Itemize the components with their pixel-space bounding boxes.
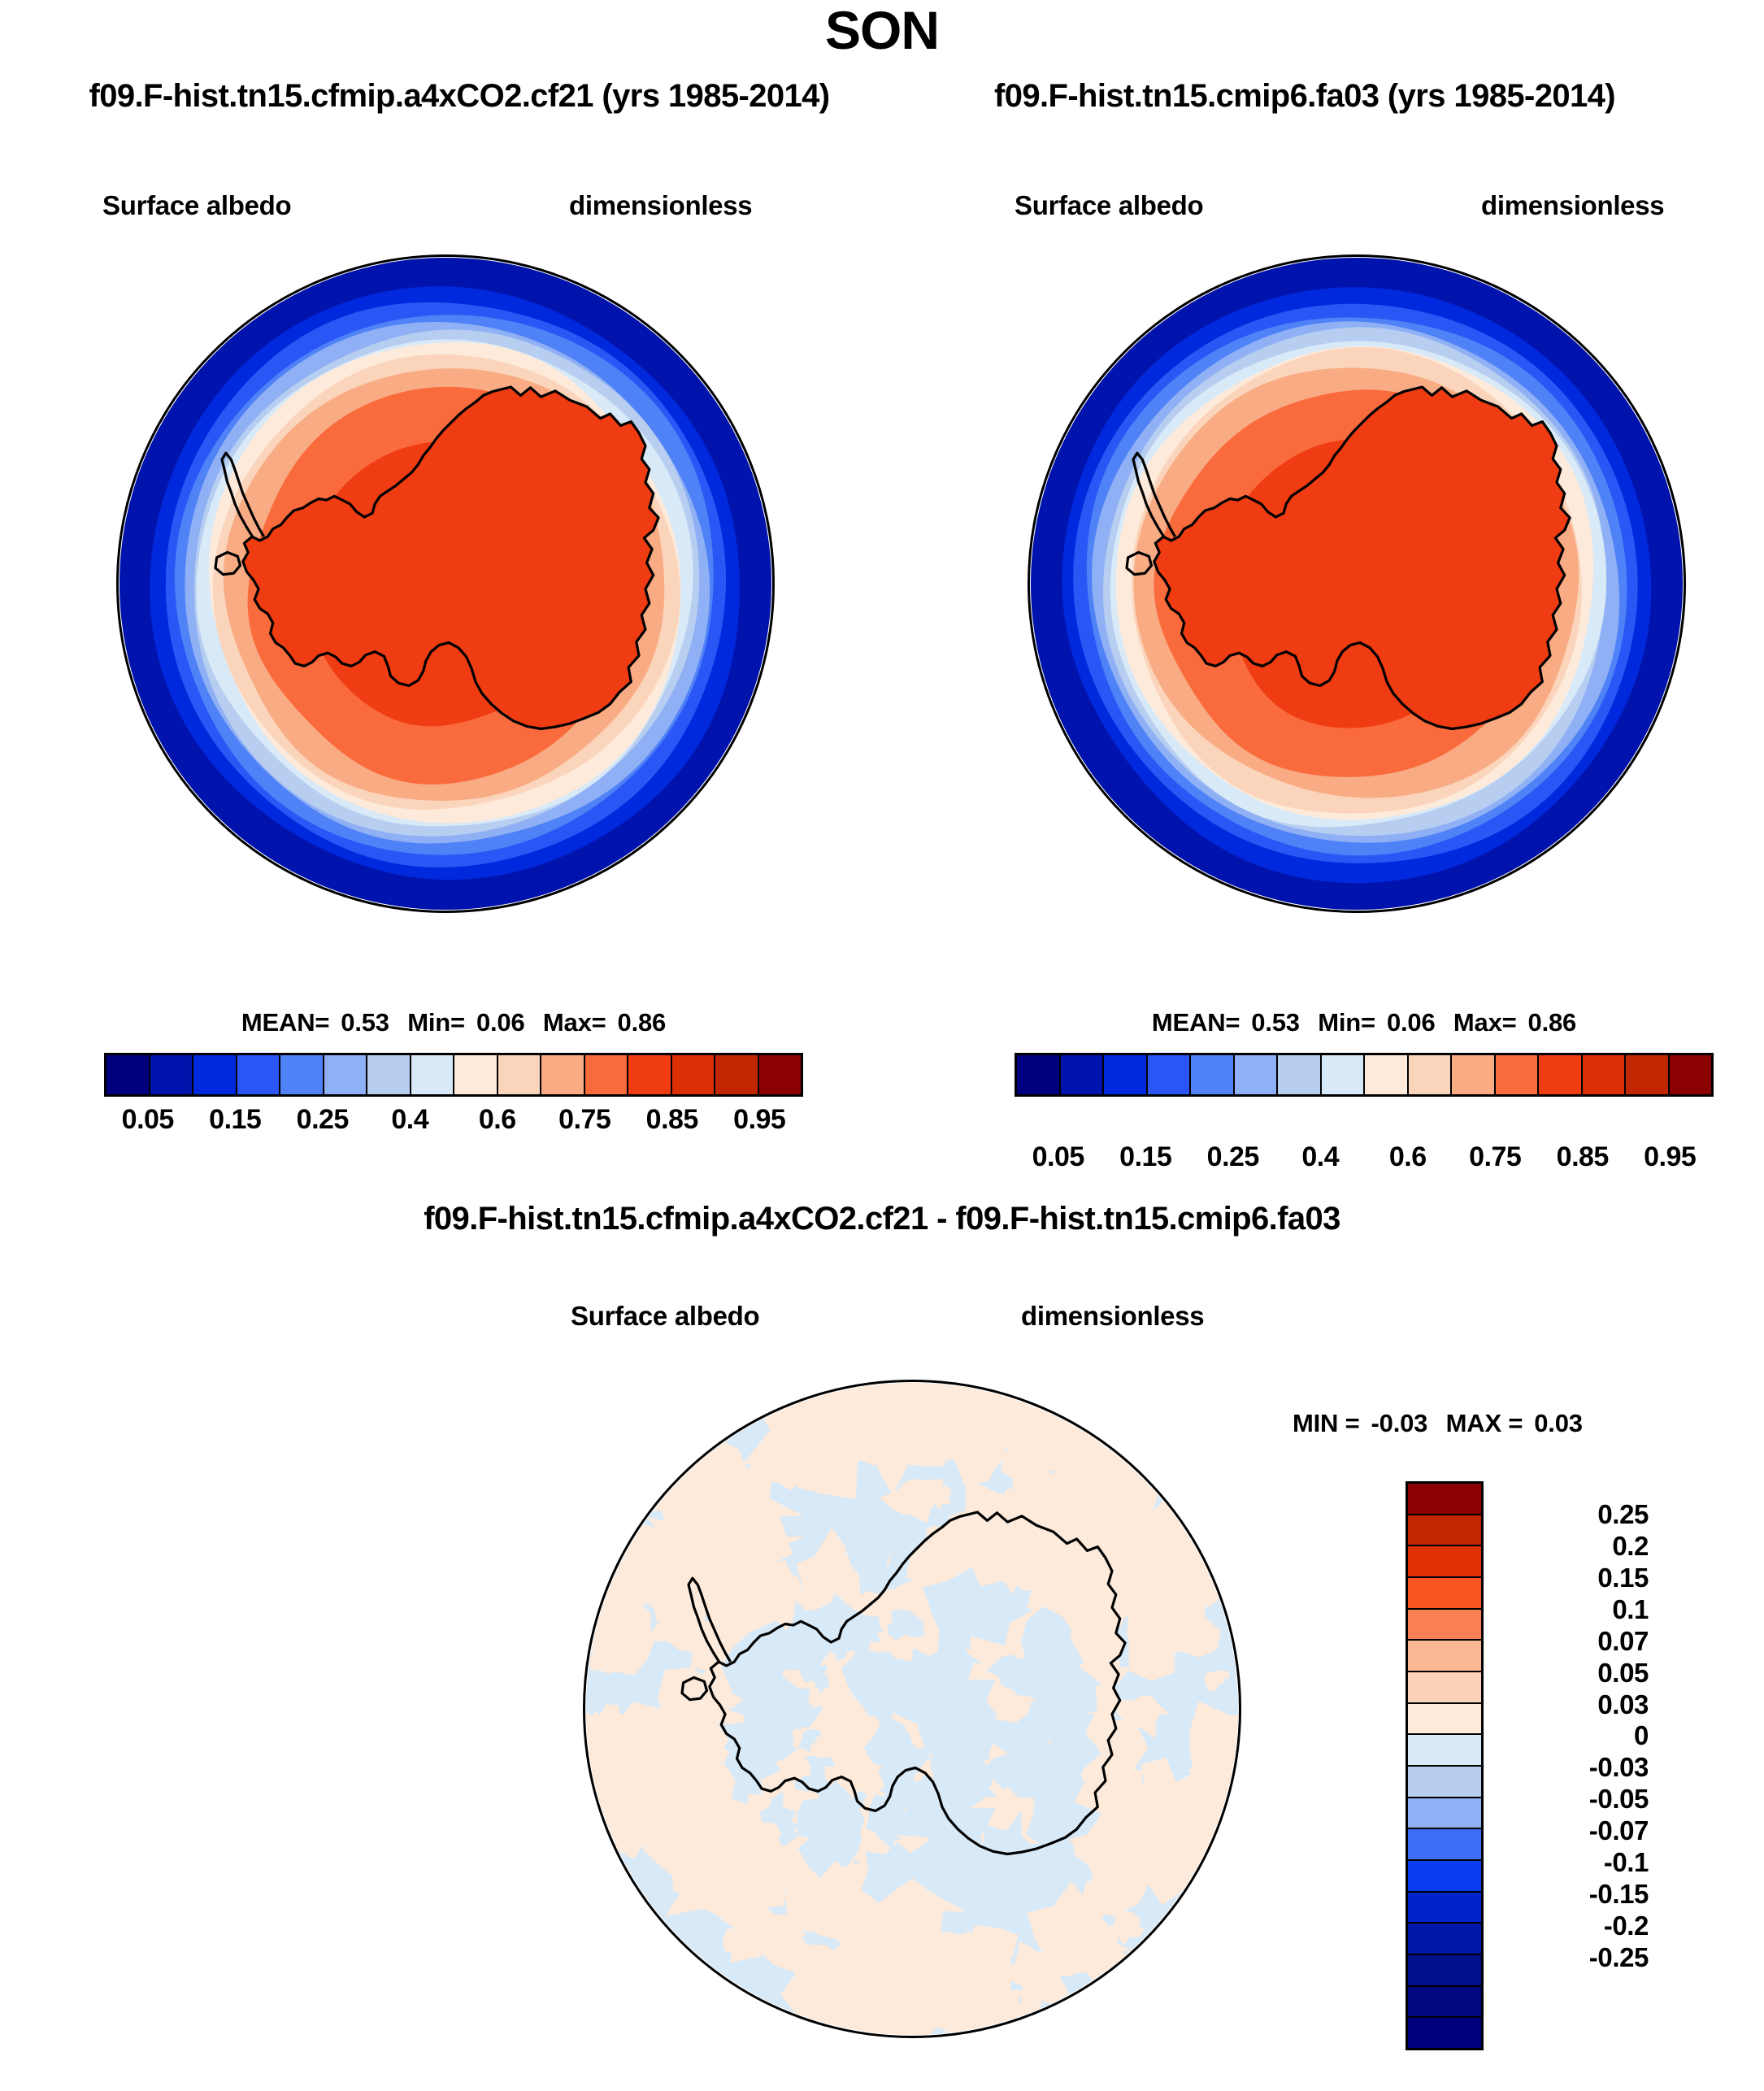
colorbar-cell: [759, 1055, 802, 1094]
colorbar-right-labels: 0.050.150.250.40.60.750.850.95: [1015, 1141, 1714, 1179]
polar-map-right: [1028, 254, 1686, 913]
left-mean-label: MEAN=: [241, 1008, 329, 1037]
colorbar-cell: [1408, 1546, 1481, 1578]
colorbar-cell: [1148, 1055, 1192, 1094]
colorbar-tick-label: 0.85: [1557, 1141, 1609, 1173]
right-panel-stats: MEAN=0.53 Min=0.06 Max=0.86: [1015, 1008, 1714, 1037]
diff-panel-variable-label: Surface albedo: [571, 1301, 759, 1332]
colorbar-tick-label: -0.25: [1494, 1942, 1649, 1973]
colorbar-tick-label: -0.07: [1494, 1815, 1649, 1846]
colorbar-tick-label: 0.6: [1389, 1141, 1427, 1173]
colorbar-cell: [1191, 1055, 1235, 1094]
difference-title: f09.F-hist.tn15.cfmip.a4xCO2.cf21 - f09.…: [0, 1201, 1764, 1237]
colorbar-cell: [1322, 1055, 1366, 1094]
difference-patch: [1010, 2000, 1042, 2032]
colorbar-cell: [237, 1055, 281, 1094]
right-max-label: Max=: [1453, 1008, 1517, 1037]
left-min-value: 0.06: [476, 1008, 525, 1037]
right-panel-variable-label: Surface albedo: [1015, 190, 1203, 221]
colorbar-tick-label: -0.15: [1494, 1879, 1649, 1910]
diff-min-value: -0.03: [1371, 1409, 1428, 1437]
colorbar-cell: [585, 1055, 629, 1094]
left-mean-value: 0.53: [341, 1008, 389, 1037]
diff-max-value: 0.03: [1534, 1409, 1583, 1437]
colorbar-cell: [628, 1055, 672, 1094]
colorbar-left: [104, 1053, 803, 1097]
colorbar-cell: [324, 1055, 368, 1094]
colorbar-difference-labels: 0.250.20.150.10.070.050.030-0.03-0.05-0.…: [1494, 1481, 1681, 2050]
colorbar-cell: [1496, 1055, 1540, 1094]
colorbar-cell: [1061, 1055, 1105, 1094]
colorbar-cell: [715, 1055, 759, 1094]
colorbar-tick-label: -0.1: [1494, 1847, 1649, 1878]
season-title: SON: [0, 3, 1764, 57]
colorbar-cell: [1408, 1735, 1481, 1767]
diff-panel-stats: MIN =-0.03 MAX =0.03: [1293, 1409, 1699, 1438]
colorbar-tick-label: 0.05: [1494, 1658, 1649, 1689]
left-max-label: Max=: [543, 1008, 606, 1037]
colorbar-tick-label: -0.2: [1494, 1911, 1649, 1941]
colorbar-tick-label: 0.95: [733, 1104, 785, 1136]
colorbar-cell: [1408, 1610, 1481, 1641]
colorbar-cell: [1408, 1893, 1481, 1924]
colorbar-tick-label: 0.85: [646, 1104, 698, 1136]
colorbar-tick-label: 0.4: [391, 1104, 428, 1136]
colorbar-tick-label: 0.1: [1494, 1594, 1649, 1625]
left-min-label: Min=: [407, 1008, 465, 1037]
colorbar-cell: [193, 1055, 237, 1094]
right-mean-value: 0.53: [1251, 1008, 1300, 1037]
colorbar-tick-label: 0.25: [1207, 1141, 1259, 1173]
colorbar-cell: [1408, 1672, 1481, 1704]
colorbar-tick-label: 0.6: [479, 1104, 516, 1136]
colorbar-cell: [1408, 1798, 1481, 1830]
colorbar-cell: [411, 1055, 455, 1094]
colorbar-cell: [1408, 1924, 1481, 1955]
colorbar-cell: [1452, 1055, 1496, 1094]
colorbar-tick-label: 0.05: [1032, 1141, 1084, 1173]
colorbar-cell: [1408, 1484, 1481, 1515]
colorbar-tick-label: 0.75: [558, 1104, 610, 1136]
colorbar-cell: [1539, 1055, 1583, 1094]
map-canvas: [585, 1382, 1239, 2036]
colorbar-cell: [1408, 1861, 1481, 1893]
colorbar-cell: [1409, 1055, 1453, 1094]
colorbar-cell: [1408, 1704, 1481, 1736]
colorbar-cell: [1365, 1055, 1409, 1094]
colorbar-cell: [1408, 2018, 1481, 2048]
left-panel-variable-label: Surface albedo: [102, 190, 291, 221]
colorbar-tick-label: 0.25: [1494, 1499, 1649, 1530]
colorbar-cell: [280, 1055, 324, 1094]
colorbar-tick-label: 0.07: [1494, 1626, 1649, 1657]
colorbar-tick-label: 0.2: [1494, 1531, 1649, 1562]
colorbar-cell: [1408, 1829, 1481, 1861]
colorbar-tick-label: 0.03: [1494, 1689, 1649, 1720]
map-canvas: [1030, 257, 1684, 911]
colorbar-tick-label: -0.03: [1494, 1752, 1649, 1783]
colorbar-cell: [1408, 1955, 1481, 1987]
colorbar-tick-label: 0.15: [1119, 1141, 1171, 1173]
run-title-right: f09.F-hist.tn15.cmip6.fa03 (yrs 1985-201…: [845, 78, 1764, 115]
colorbar-cell: [1670, 1055, 1712, 1094]
colorbar-cell: [1408, 1515, 1481, 1547]
colorbar-cell: [1408, 1578, 1481, 1610]
right-panel-units-label: dimensionless: [1481, 190, 1664, 221]
colorbar-cell: [150, 1055, 194, 1094]
colorbar-cell: [541, 1055, 585, 1094]
run-title-left: f09.F-hist.tn15.cfmip.a4xCO2.cf21 (yrs 1…: [0, 78, 919, 115]
colorbar-tick-label: -0.05: [1494, 1784, 1649, 1815]
right-min-value: 0.06: [1387, 1008, 1436, 1037]
colorbar-right: [1015, 1053, 1714, 1097]
diff-max-label: MAX =: [1446, 1409, 1523, 1437]
colorbar-cell: [1408, 1641, 1481, 1672]
colorbar-tick-label: 0.15: [209, 1104, 261, 1136]
colorbar-tick-label: 0.15: [1494, 1563, 1649, 1593]
colorbar-cell: [1408, 1767, 1481, 1798]
polar-map-difference: [583, 1380, 1241, 2038]
colorbar-tick-label: 0.95: [1644, 1141, 1696, 1173]
colorbar-cell: [1017, 1055, 1061, 1094]
colorbar-cell: [1408, 1987, 1481, 2019]
colorbar-tick-label: 0.75: [1469, 1141, 1521, 1173]
colorbar-cell: [454, 1055, 498, 1094]
colorbar-cell: [1235, 1055, 1279, 1094]
colorbar-tick-label: 0.05: [122, 1104, 174, 1136]
colorbar-tick-label: 0: [1494, 1720, 1649, 1751]
colorbar-difference: [1406, 1481, 1484, 2050]
colorbar-cell: [367, 1055, 411, 1094]
colorbar-cell: [1626, 1055, 1670, 1094]
left-panel-stats: MEAN=0.53 Min=0.06 Max=0.86: [104, 1008, 803, 1037]
right-mean-label: MEAN=: [1152, 1008, 1240, 1037]
polar-map-left: [116, 254, 775, 913]
diff-min-label: MIN =: [1293, 1409, 1360, 1437]
colorbar-tick-label: 0.25: [297, 1104, 349, 1136]
left-max-value: 0.86: [618, 1008, 667, 1037]
map-canvas: [119, 257, 772, 911]
left-panel-units-label: dimensionless: [569, 190, 752, 221]
colorbar-cell: [672, 1055, 716, 1094]
colorbar-cell: [1104, 1055, 1148, 1094]
right-min-label: Min=: [1318, 1008, 1375, 1037]
colorbar-cell: [1583, 1055, 1627, 1094]
colorbar-cell: [106, 1055, 150, 1094]
colorbar-cell: [498, 1055, 542, 1094]
colorbar-tick-label: 0.4: [1301, 1141, 1339, 1173]
colorbar-cell: [1278, 1055, 1322, 1094]
diff-panel-units-label: dimensionless: [1021, 1301, 1204, 1332]
right-max-value: 0.86: [1528, 1008, 1577, 1037]
colorbar-left-labels: 0.050.150.250.40.60.750.850.95: [104, 1104, 803, 1141]
